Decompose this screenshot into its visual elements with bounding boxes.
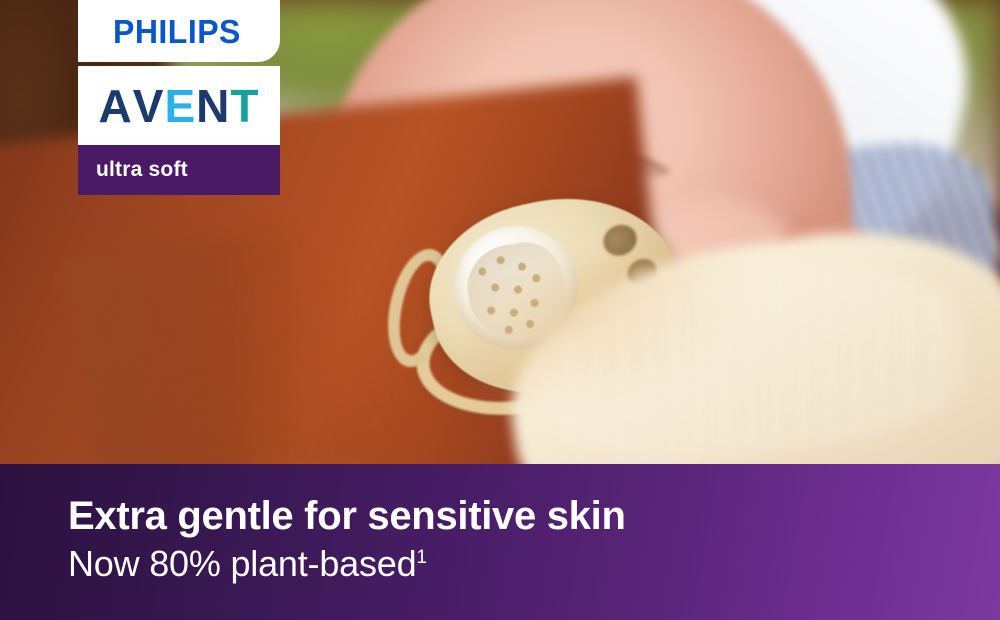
- philips-logo-block: PHILIPS: [78, 0, 280, 62]
- avent-logo-block: AVENT: [78, 66, 280, 145]
- subline-text: Now 80% plant-based1: [68, 544, 1000, 584]
- avent-wordmark: AVENT: [99, 83, 260, 129]
- footnote-marker: 1: [416, 547, 426, 568]
- avent-letter-t: T: [230, 83, 259, 129]
- avent-letter-n: N: [196, 83, 230, 129]
- brand-logo-lockup: PHILIPS AVENT ultra soft: [78, 0, 280, 195]
- subline-main: Now 80% plant-based: [68, 543, 416, 584]
- headline-text: Extra gentle for sensitive skin: [68, 496, 1000, 538]
- avent-letter-a: A: [99, 83, 133, 129]
- philips-wordmark: PHILIPS: [113, 15, 241, 48]
- message-bar: Extra gentle for sensitive skin Now 80% …: [0, 464, 1000, 620]
- avent-letter-e: E: [164, 83, 196, 129]
- avent-letter-v: V: [133, 83, 165, 129]
- product-tagline-text: ultra soft: [96, 158, 188, 182]
- philips-avent-promo-banner: PHILIPS AVENT ultra soft Extra gentle fo…: [0, 0, 1000, 620]
- product-tagline-block: ultra soft: [78, 145, 280, 195]
